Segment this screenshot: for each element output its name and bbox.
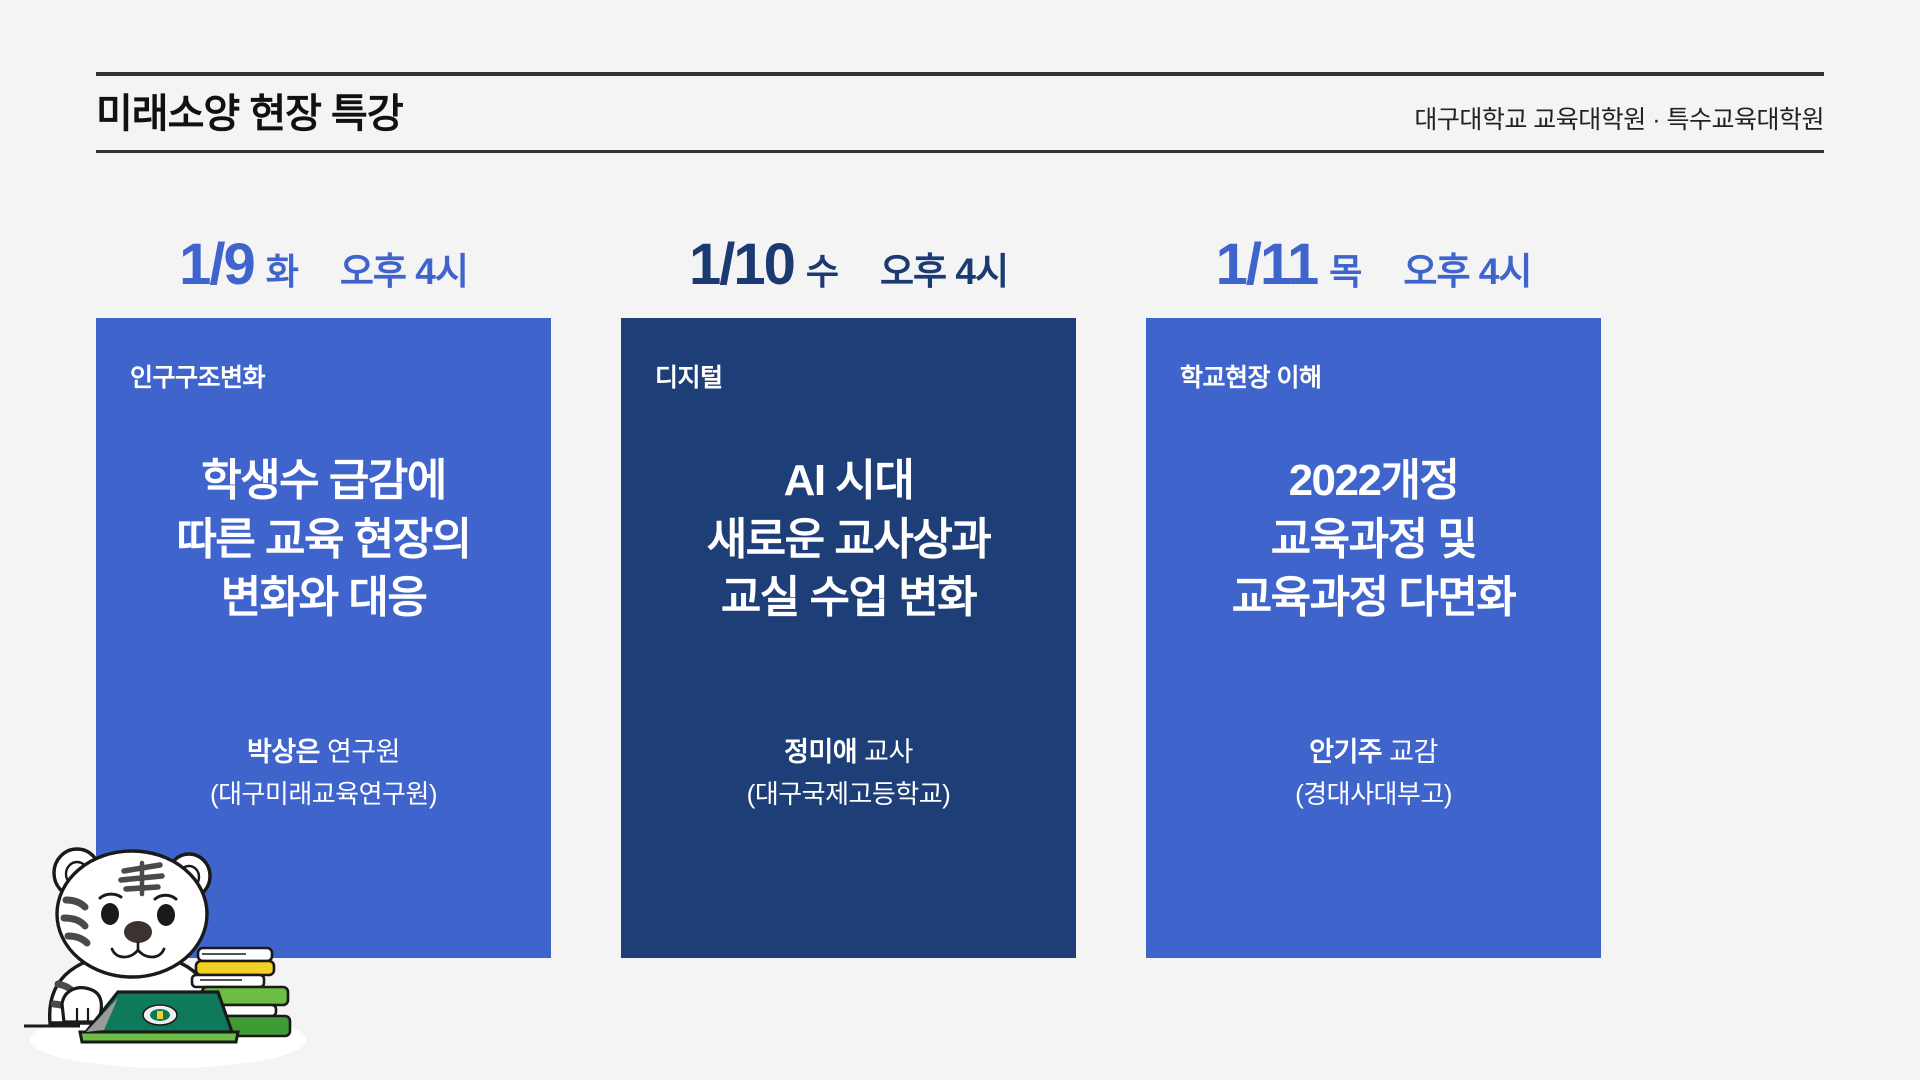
session-date: 1/9 xyxy=(179,236,254,294)
session-date-line: 1/10 수 오후 4시 xyxy=(621,236,1076,318)
page-title: 미래소양 현장 특강 xyxy=(96,90,403,138)
session-date: 1/10 xyxy=(689,236,794,294)
session-tag: 학교현장 이해 xyxy=(1180,358,1321,394)
speaker-affiliation: (경대사대부고) xyxy=(1180,776,1567,812)
session-speaker: 정미애 교사 (대구국제고등학교) xyxy=(655,734,1042,924)
session-panel: 학교현장 이해 2022개정교육과정 및교육과정 다면화 안기주 교감 (경대사… xyxy=(1146,318,1601,958)
header-bottom-rule xyxy=(96,150,1824,153)
speaker-name-line: 정미애 교사 xyxy=(655,734,1042,772)
poster-canvas: 미래소양 현장 특강 대구대학교 교육대학원 · 특수교육대학원 1/9 화 오… xyxy=(0,0,1920,1080)
session-title: 2022개정교육과정 및교육과정 다면화 xyxy=(1180,394,1567,734)
session-weekday: 화 xyxy=(266,254,298,290)
session-weekday: 수 xyxy=(806,254,838,290)
session-date-line: 1/9 화 오후 4시 xyxy=(96,236,551,318)
speaker-name-line: 안기주 교감 xyxy=(1180,734,1567,772)
session-panel: 디지털 AI 시대새로운 교사상과교실 수업 변화 정미애 교사 (대구국제고등… xyxy=(621,318,1076,958)
session-card-3: 1/11 목 오후 4시 학교현장 이해 2022개정교육과정 및교육과정 다면… xyxy=(1146,236,1601,958)
session-tag: 인구구조변화 xyxy=(130,358,265,394)
session-tag: 디지털 xyxy=(655,358,723,394)
session-date-line: 1/11 목 오후 4시 xyxy=(1146,236,1601,318)
session-speaker: 안기주 교감 (경대사대부고) xyxy=(1180,734,1567,924)
speaker-role: 교사 xyxy=(864,737,913,767)
header-row: 미래소양 현장 특강 대구대학교 교육대학원 · 특수교육대학원 xyxy=(96,76,1824,150)
speaker-role: 연구원 xyxy=(327,737,400,767)
session-title: 학생수 급감에따른 교육 현장의변화와 대응 xyxy=(130,394,517,734)
speaker-affiliation: (대구미래교육연구원) xyxy=(130,776,517,812)
speaker-name: 안기주 xyxy=(1309,737,1382,767)
session-card-list: 1/9 화 오후 4시 인구구조변화 학생수 급감에따른 교육 현장의변화와 대… xyxy=(96,236,1824,958)
speaker-name: 박상은 xyxy=(247,737,320,767)
session-date: 1/11 xyxy=(1216,236,1318,294)
session-weekday: 목 xyxy=(1329,254,1361,290)
speaker-role: 교감 xyxy=(1389,737,1438,767)
session-time: 오후 4시 xyxy=(340,253,468,290)
session-time: 오후 4시 xyxy=(1403,253,1531,290)
speaker-affiliation: (대구국제고등학교) xyxy=(655,776,1042,812)
tiger-mascot-icon xyxy=(20,808,320,1068)
session-title: AI 시대새로운 교사상과교실 수업 변화 xyxy=(655,394,1042,734)
speaker-name: 정미애 xyxy=(784,737,857,767)
speaker-name-line: 박상은 연구원 xyxy=(130,734,517,772)
session-card-2: 1/10 수 오후 4시 디지털 AI 시대새로운 교사상과교실 수업 변화 정… xyxy=(621,236,1076,958)
session-time: 오후 4시 xyxy=(880,253,1008,290)
organization-label: 대구대학교 교육대학원 · 특수교육대학원 xyxy=(1414,105,1824,138)
poster-header: 미래소양 현장 특강 대구대학교 교육대학원 · 특수교육대학원 xyxy=(96,72,1824,153)
